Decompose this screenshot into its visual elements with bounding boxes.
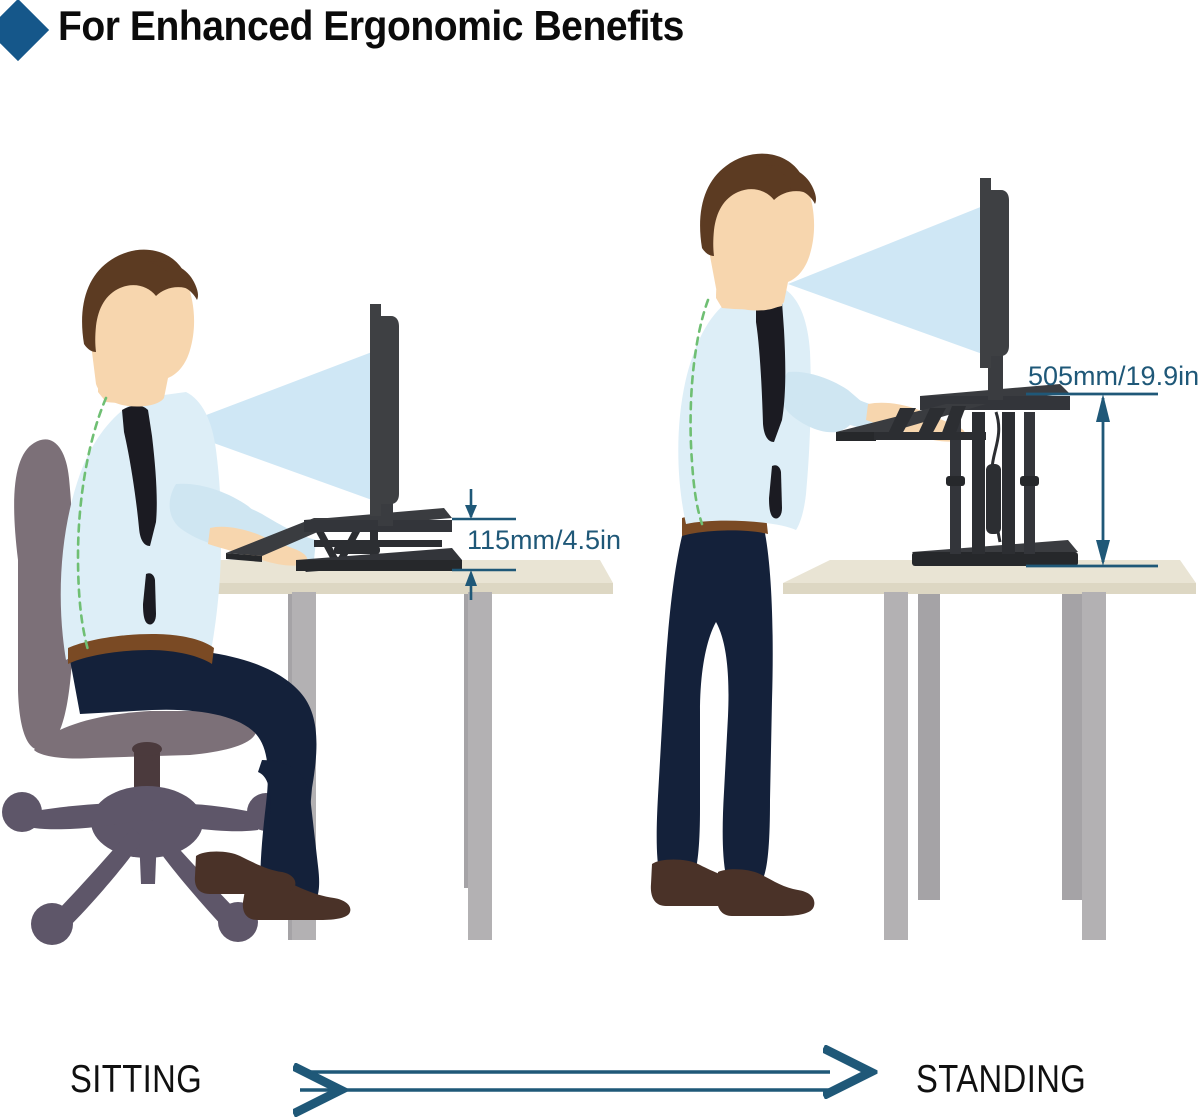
riser-column <box>1002 412 1015 554</box>
standing-scene <box>651 154 1196 940</box>
desk-leg-front <box>1082 592 1106 940</box>
dimension-label-standing: 505mm/19.9in <box>1028 361 1199 392</box>
double-headed-arrow-icon <box>300 1072 830 1090</box>
person-trousers <box>657 524 773 876</box>
infographic-root: For Enhanced Ergonomic Benefits <box>0 0 1200 1120</box>
desk-edge <box>783 583 1196 594</box>
desk-leg-back <box>918 588 940 900</box>
chair-caster <box>31 903 73 945</box>
dim-arrowhead-down <box>465 505 477 519</box>
desk-leg-back <box>1062 588 1084 900</box>
dim-arrowhead-up <box>1096 394 1110 422</box>
riser-gas-spring <box>334 546 380 554</box>
footer-label-standing: STANDING <box>916 1058 1086 1102</box>
desk-edge <box>168 583 613 594</box>
riser-base-body <box>296 560 462 571</box>
sitting-scene <box>2 250 613 945</box>
gaze-cone <box>788 204 988 356</box>
desk-leg-front <box>468 592 492 940</box>
desk-leg-front <box>884 592 908 940</box>
tray-rail <box>874 432 986 440</box>
riser-crossbar <box>314 540 442 547</box>
chair-cylinder-top <box>132 742 162 756</box>
riser-joint <box>946 476 965 486</box>
riser-joint <box>1020 476 1039 486</box>
footer-label-sitting: SITTING <box>70 1058 202 1102</box>
chair-base-spoke <box>139 836 157 884</box>
chair-caster <box>2 792 42 832</box>
monitor-side-view <box>980 178 1009 368</box>
dimension-standing <box>1026 394 1158 566</box>
dimension-label-sitting: 115mm/4.5in <box>467 525 621 556</box>
illustration <box>0 0 1200 1120</box>
riser-base-body <box>912 552 1078 566</box>
keyboard-tray-body <box>836 432 876 441</box>
person-shoe-back <box>717 869 815 916</box>
monitor-side-view <box>370 304 399 516</box>
